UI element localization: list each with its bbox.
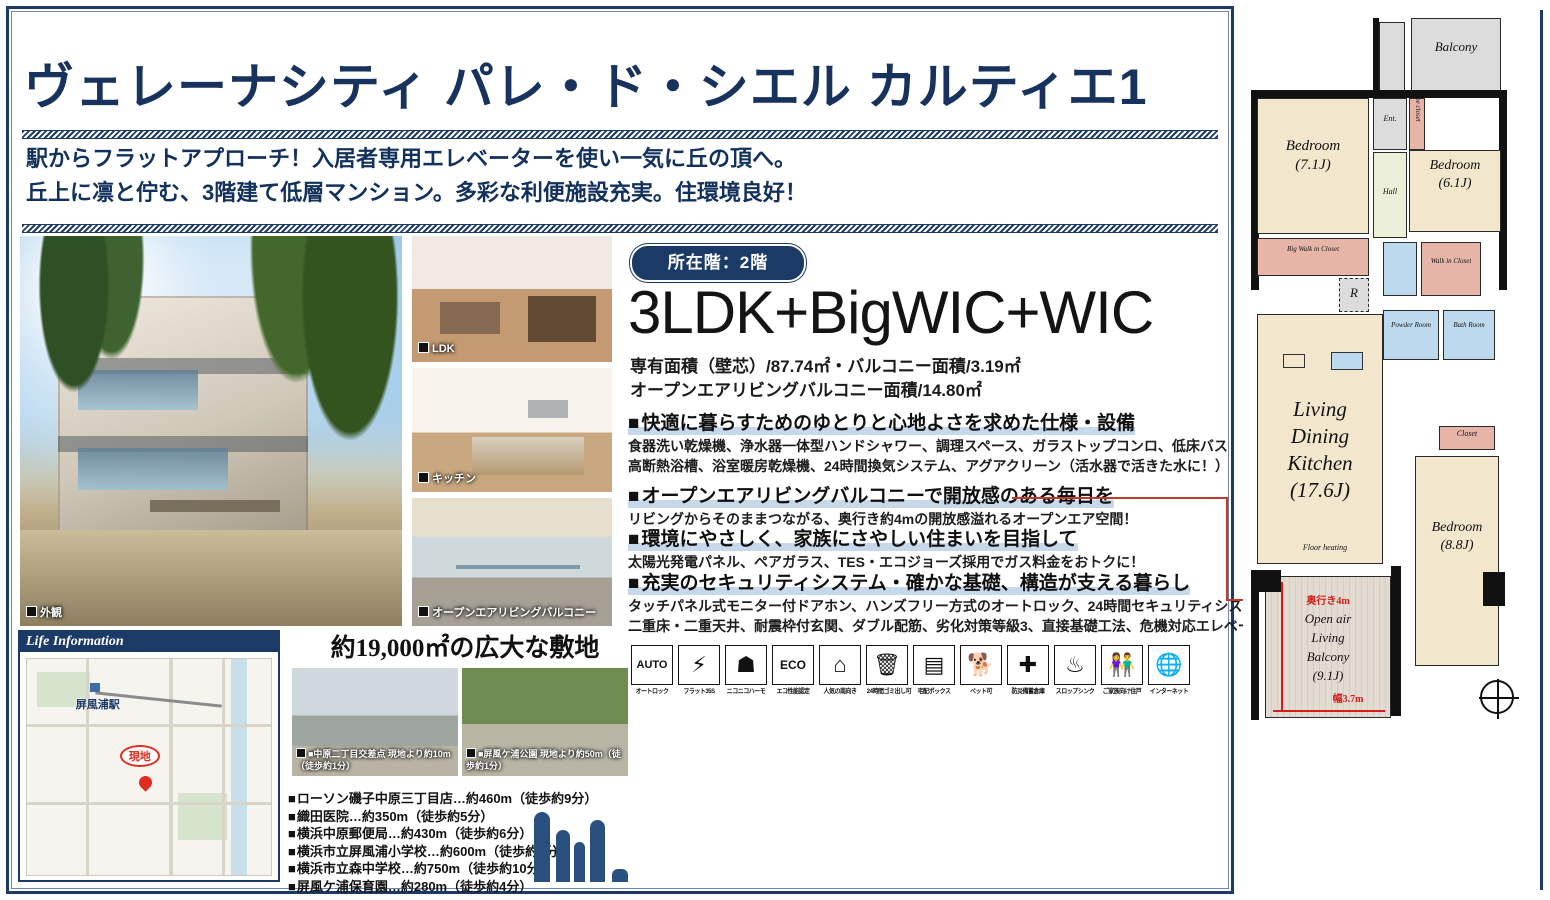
palm-tree-left	[20, 236, 164, 556]
feature-4-body-1: タッチパネル式モニター付ドアホン、ハンズフリー方式のオートロック、24時間セキュ…	[628, 596, 1228, 616]
street-photo-1-caption-text: ■中原二丁目交差点 現地より約10m（徒歩約1分）	[296, 749, 451, 771]
title-divider-top	[22, 130, 1218, 139]
lead-line-2: 丘上に凛と佇む、3階建て低層マンション。多彩な利便施設充実。住環境良好！	[26, 176, 1206, 210]
family-suitable-icon: 👫	[1101, 645, 1143, 685]
fp-wic	[1421, 242, 1481, 296]
map-site-label: 現地	[120, 745, 160, 767]
fp-wic-label: Walk in Closet	[1421, 258, 1481, 266]
no-gas-icon: ⚡	[678, 645, 720, 685]
fp-hall-label: Hall	[1373, 188, 1407, 197]
feature-block-4: 充実のセキュリティシステム・確かな基礎、構造が支える暮らし タッチパネル式モニタ…	[628, 572, 1228, 636]
title-divider-bottom	[22, 224, 1218, 233]
amenity-label-8: 防災備蓄倉庫	[1008, 687, 1048, 696]
amenity-icon-sunlight: ⌂ 人気の南向き	[818, 645, 862, 696]
fp-ldk-line-2: Dining	[1257, 425, 1383, 449]
feature-1-body-2: 高断熱浴槽、浴室暖房乾燥機、24時間換気システム、アグアクリーン（活水器で活きた…	[628, 456, 1228, 476]
location-map[interactable]: 屏風浦駅 現地	[26, 658, 272, 876]
map-river	[231, 659, 247, 875]
fp-balcony-top-label: Balcony	[1411, 40, 1501, 55]
area-line-1: 専有面積（壁芯）/87.74㎡・バルコニー面積/3.19㎡	[630, 355, 1230, 379]
autolock-icon: AUTO	[631, 645, 673, 685]
amenity-label-9: スロップシンク	[1055, 687, 1095, 696]
feature-block-3: 環境にやさしく、家族にさやしい住まいを目指して 太陽光発電パネル、ペアガラス、T…	[628, 528, 1228, 572]
floor-plan: Balcony Bedroom (7.1J) Ent. Shoe closet …	[1243, 10, 1543, 890]
fp-width-arrow	[1273, 710, 1385, 712]
site-area-heading: 約19,000㎡の広大な敷地	[300, 634, 630, 664]
lead-copy: 駅からフラットアプローチ！入居者専用エレベーターを使い一気に丘の頂へ。 丘上に凛…	[26, 142, 1206, 210]
disaster-stock-icon: ✚	[1007, 645, 1049, 685]
amenity-label-6: 宅配ボックス	[914, 687, 954, 696]
list-item: ローソン磯子中原三丁目店…約460m（徒歩約9分）	[288, 790, 588, 808]
amenity-icon-autolock: AUTO オートロック	[630, 645, 674, 696]
amenity-label-2: ニコニコハーモ	[726, 687, 766, 696]
fp-bedroom-2-size: (6.1J)	[1407, 176, 1503, 192]
fp-wall-right-lower	[1483, 572, 1505, 606]
fp-bath-room	[1443, 310, 1495, 360]
amenity-icon-internet: 🌐 インターネット	[1147, 645, 1191, 696]
fp-big-wic-label: Big Walk in Closet	[1257, 246, 1369, 254]
map-road-h1	[27, 724, 271, 727]
amenity-label-3: エコ性能認定	[773, 687, 813, 696]
park-photo-caption: ■屏風ケ浦公園 現地より約50m（徒歩約1分）	[466, 748, 624, 772]
internet-icon: 🌐	[1148, 645, 1190, 685]
map-green-2	[178, 793, 227, 841]
ground-plane	[20, 530, 402, 626]
map-road-v3	[222, 659, 225, 875]
page-title: ヴェレーナシティ パレ・ド・シエル カルティエ1	[24, 58, 1214, 116]
plan-type-heading: 3LDK+BigWIC+WIC	[628, 280, 1228, 346]
fp-wall-top-main	[1251, 90, 1507, 98]
fp-bedroom-1-name: Bedroom	[1257, 138, 1369, 155]
fp-closet-label: Closet	[1439, 430, 1495, 439]
fp-powder-room	[1383, 310, 1439, 360]
amenity-icon-strip: AUTO オートロック ⚡ フラット35S ☗ ニコニコハーモ ECO エコ性能…	[630, 645, 1230, 696]
feature-block-2: オープンエアリビングバルコニーで開放感のある毎日を リビングからそのままつながる…	[628, 485, 1228, 529]
ldk-cabinet	[528, 296, 596, 341]
fp-entrance-label: Ent.	[1373, 115, 1407, 124]
fp-shoe-closet-label: Shoe closet	[1413, 82, 1421, 130]
amenity-icon-disaster: ✚ 防災備蓄倉庫	[1006, 645, 1050, 696]
fp-sink-icon	[1331, 352, 1363, 370]
kitchen-island	[472, 437, 584, 474]
fp-bedroom-3-name: Bedroom	[1411, 520, 1503, 536]
range-hood	[528, 400, 568, 417]
fp-balcony-line-3: Balcony	[1269, 650, 1387, 665]
amenity-icon-pet: 🐕 ペット可	[959, 645, 1003, 696]
map-road-v2	[169, 659, 173, 875]
fp-bedroom-2-name: Bedroom	[1407, 158, 1503, 174]
amenity-label-0: オートロック	[632, 687, 672, 696]
fp-refrigerator-label: R	[1339, 286, 1369, 301]
exterior-photo: 外観	[20, 236, 402, 626]
silhouette-adult-1	[534, 812, 550, 882]
fp-bedroom-3-size: (8.8J)	[1411, 538, 1503, 554]
fp-balcony-size: (9.1J)	[1269, 669, 1387, 684]
balcony-railing	[456, 565, 580, 569]
amenity-label-11: インターネット	[1149, 687, 1189, 696]
pet-ok-icon: 🐕	[960, 645, 1002, 685]
kitchen-photo-caption: キッチン	[418, 472, 476, 486]
feature-block-1: 快適に暮らすためのゆとりと心地よさを求めた仕様・設備 食器洗い乾燥機、浄水器一体…	[628, 412, 1228, 476]
eco-icon: ECO	[772, 645, 814, 685]
feature-3-heading: 環境にやさしく、家族にさやしい住まいを目指して	[628, 528, 1078, 552]
ldk-photo-caption: LDK	[418, 342, 455, 356]
map-road-h2	[27, 802, 271, 805]
fp-balcony-depth-label: 奥行き4m	[1269, 596, 1387, 607]
area-line-2: オープンエアリビングバルコニー面積/14.80㎡	[630, 379, 1230, 403]
exterior-photo-caption: 外観	[26, 606, 62, 620]
feature-2-body-1: リビングからそのままつながる、奥行き約4mの開放感溢れるオープンエア空間！	[628, 509, 1228, 529]
amenity-icon-slopesink: ♨ スロップシンク	[1053, 645, 1097, 696]
ldk-photo: LDK	[412, 236, 612, 362]
delivery-box-icon: ▤	[913, 645, 955, 685]
fp-bedroom-1-size: (7.1J)	[1257, 157, 1369, 174]
caption-bullet-icon-2	[466, 748, 476, 758]
amenity-label-5: 24時間ゴミ出し可	[867, 687, 907, 696]
lead-line-1: 駅からフラットアプローチ！入居者専用エレベーターを使い一気に丘の頂へ。	[26, 142, 1206, 176]
fp-entrance	[1373, 98, 1407, 150]
map-pin-icon	[137, 773, 155, 791]
fp-wall-left-lower	[1251, 570, 1259, 720]
caption-bullet-icon	[296, 748, 306, 758]
map-road-v1	[86, 659, 89, 875]
trash-24h-icon: 🗑	[866, 645, 908, 685]
silhouette-child-2	[574, 842, 585, 882]
balcony-leader-line-horizontal	[1012, 497, 1228, 499]
ldk-sofa	[440, 302, 500, 335]
floor-badge: 所在階：2階	[632, 246, 804, 280]
amenity-icon-eco: ECO エコ性能認定	[771, 645, 815, 696]
fp-meter-box	[1379, 22, 1405, 96]
kitchen-photo: キッチン	[412, 368, 612, 492]
fp-powder-room-label: Powder Room	[1383, 322, 1439, 330]
street-photo-1: ■中原二丁目交差点 現地より約10m（徒歩約1分）	[292, 668, 458, 776]
fp-floor-heating-label: Floor heating	[1267, 544, 1383, 553]
park-photo-caption-text: ■屏風ケ浦公園 現地より約50m（徒歩約1分）	[466, 749, 621, 771]
amenity-icon-trash: 🗑 24時間ゴミ出し可	[865, 645, 909, 696]
feature-3-body-1: 太陽光発電パネル、ペアガラス、TES・エコジョーズ採用でガス料金をおトクに！	[628, 552, 1228, 572]
amenity-label-4: 人気の南向き	[820, 687, 860, 696]
compass-icon	[1480, 680, 1514, 714]
amenity-icon-delivery: ▤ 宅配ボックス	[912, 645, 956, 696]
silhouette-dog	[612, 869, 628, 882]
amenity-label-1: フラット35S	[679, 687, 719, 696]
amenity-label-10: ご家族向け住戸	[1102, 687, 1142, 696]
life-information-panel: Life Information 屏風浦駅 現地	[18, 630, 280, 882]
fp-balcony-line-1: Open air	[1269, 612, 1387, 627]
family-silhouette-icon	[530, 810, 630, 882]
fp-bath-room-label: Bath Room	[1441, 322, 1497, 330]
amenity-icon-flat35s: ⚡ フラット35S	[677, 645, 721, 696]
fp-wash-basin	[1383, 242, 1417, 296]
street-photo-1-caption: ■中原二丁目交差点 現地より約10m（徒歩約1分）	[296, 748, 454, 772]
life-information-title: Life Information	[20, 632, 278, 652]
slope-sink-icon: ♨	[1054, 645, 1096, 685]
silhouette-child-1	[556, 830, 570, 882]
park-photo: ■屏風ケ浦公園 現地より約50m（徒歩約1分）	[462, 668, 628, 776]
sunlight-house-icon: ⌂	[819, 645, 861, 685]
fp-bedroom-3	[1415, 456, 1499, 666]
fp-balcony-line-2: Living	[1269, 631, 1387, 646]
counter-service-icon: ☗	[725, 645, 767, 685]
fp-balcony-width-label: 幅3.7m	[1303, 694, 1393, 705]
fp-depth-arrow	[1281, 582, 1283, 712]
balcony-photo: オープンエアリビングバルコニー	[412, 498, 612, 626]
feature-1-body-1: 食器洗い乾燥機、浄水器一体型ハンドシャワー、調理スペース、ガラストップコンロ、低…	[628, 436, 1228, 456]
feature-1-heading: 快適に暮らすためのゆとりと心地よさを求めた仕様・設備	[628, 412, 1135, 436]
fp-wall-mid-lower	[1391, 566, 1401, 716]
balcony-leader-line-vertical	[1226, 497, 1228, 601]
flyer-page: ヴェレーナシティ パレ・ド・シエル カルティエ1 駅からフラットアプローチ！入居…	[0, 0, 1550, 900]
map-station-label: 屏風浦駅	[76, 696, 120, 712]
fp-wall-top-1	[1373, 18, 1379, 100]
fp-ldk-line-1: Living	[1257, 398, 1383, 422]
amenity-label-7: ペット可	[961, 687, 1001, 696]
fp-big-wic	[1257, 238, 1369, 276]
amenity-icon-family: 👫 ご家族向け住戸	[1100, 645, 1144, 696]
feature-4-body-2: 二重床・二重天井、耐震枠付玄関、ダブル配筋、劣化対策等級3、直接基礎工法、危機対…	[628, 616, 1228, 636]
balcony-photo-caption: オープンエアリビングバルコニー	[418, 606, 596, 620]
fp-ldk-line-3: Kitchen	[1257, 452, 1383, 476]
silhouette-adult-2	[590, 820, 605, 882]
fp-stove-icon	[1283, 354, 1305, 368]
fp-balcony-top	[1411, 18, 1501, 96]
station-icon	[90, 683, 100, 692]
fp-ldk-size: (17.6J)	[1257, 479, 1383, 503]
area-specs: 専有面積（壁芯）/87.74㎡・バルコニー面積/3.19㎡ オープンエアリビング…	[630, 355, 1230, 403]
feature-4-heading: 充実のセキュリティシステム・確かな基礎、構造が支える暮らし	[628, 572, 1190, 596]
amenity-icon-counter: ☗ ニコニコハーモ	[724, 645, 768, 696]
